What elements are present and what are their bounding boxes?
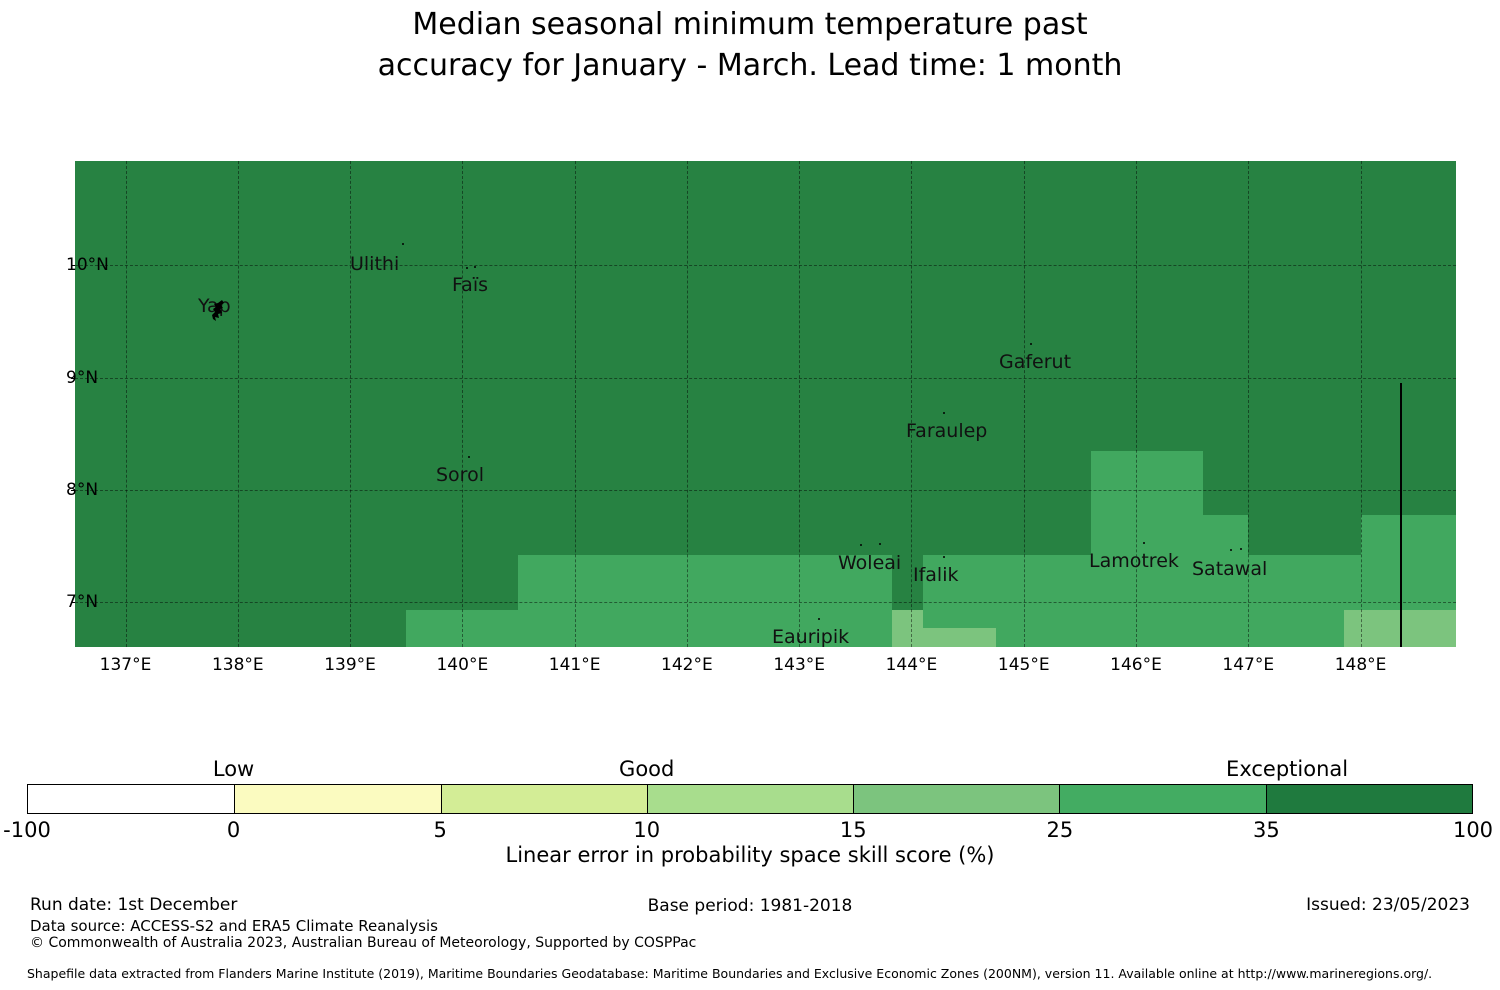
island-marker-dot [1030,343,1032,345]
colorbar-category-good: Good [619,757,674,781]
island-label-lamotrek: Lamotrek [1089,552,1179,571]
colorbar-band [1266,785,1472,813]
x-axis-tick-label: 145°E [998,655,1050,675]
map-plot-area: YapUlithiFaïsSorolGaferutFaraulepWoleaiI… [75,161,1456,647]
colorbar-band [647,785,853,813]
x-axis-tick-label: 143°E [773,655,825,675]
eez-boundary-line [1400,383,1402,647]
x-axis-tick-label: 139°E [324,655,376,675]
island-label-ulithi: Ulithi [350,255,399,274]
colorbar-category-low: Low [213,757,254,781]
colorbar-tick-label: 100 [1453,818,1493,842]
island-marker-dot [1143,542,1145,544]
island-label-eauripik: Eauripik [772,628,849,647]
page-title: Median seasonal minimum temperature past… [0,4,1500,86]
footer-copyright: © Commonwealth of Australia 2023, Austra… [30,934,696,952]
colorbar-tick-label: -100 [3,818,51,842]
island-label-woleai: Woleai [838,554,901,573]
colorbar-band [853,785,1059,813]
x-axis-tick-label: 142°E [661,655,713,675]
island-label-sorol: Sorol [436,466,484,485]
island-label-gaferut: Gaferut [999,353,1071,372]
colorbar-band [28,785,234,813]
heatmap-cell [518,555,892,574]
colorbar-tick-label: 35 [1253,818,1280,842]
colorbar-tick-label: 10 [633,818,660,842]
island-marker-dot [943,412,945,414]
colorbar-tick-label: 25 [1046,818,1073,842]
island-label-satawal: Satawal [1192,560,1267,579]
island-label-fas: Faïs [452,276,488,295]
colorbar-band [1059,785,1265,813]
x-axis-tick-label: 147°E [1222,655,1274,675]
island-marker-dot [943,556,945,558]
colorbar-band [441,785,647,813]
heatmap-cell [1361,515,1456,610]
island-marker-dot [468,456,470,458]
island-marker-dot [466,267,468,269]
y-axis-tick-mark [71,602,75,603]
island-marker-dot [818,618,820,620]
colorbar-axis-label: Linear error in probability space skill … [0,843,1500,868]
x-axis-tick-label: 138°E [212,655,264,675]
x-axis-tick-label: 137°E [100,655,152,675]
island-label-faraulep: Faraulep [906,422,987,441]
footer-issued: Issued: 23/05/2023 [1306,895,1470,916]
x-axis-tick-label: 148°E [1335,655,1387,675]
island-label-ifalik: Ifalik [913,566,959,585]
island-marker-dot [860,544,862,546]
island-marker-dot [879,543,881,545]
heatmap-cell [1091,515,1248,555]
colorbar-tick-label: 15 [840,818,867,842]
heatmap-cell [923,628,996,647]
footer-base-period: Base period: 1981-2018 [0,896,1500,917]
colorbar[interactable] [27,784,1473,814]
y-axis-tick-mark [71,490,75,491]
x-axis-tick-label: 144°E [886,655,938,675]
island-label-yap: Yap [198,297,231,316]
island-marker-dot [1240,548,1242,550]
colorbar-band [234,785,440,813]
x-axis-tick-label: 146°E [1110,655,1162,675]
y-axis-tick-mark [71,265,75,266]
y-axis-tick-mark [71,378,75,379]
island-marker-dot [474,266,476,268]
heatmap-cell [406,610,518,647]
colorbar-tick-label: 5 [433,818,446,842]
yap-island-shape [212,300,228,322]
x-axis-tick-label: 140°E [436,655,488,675]
island-marker-dot [1230,549,1232,551]
colorbar-tick-label: 0 [227,818,240,842]
footer-shapefile: Shapefile data extracted from Flanders M… [27,966,1432,982]
colorbar-category-exceptional: Exceptional [1226,757,1348,781]
x-axis-tick-label: 141°E [549,655,601,675]
island-marker-dot [402,243,404,245]
